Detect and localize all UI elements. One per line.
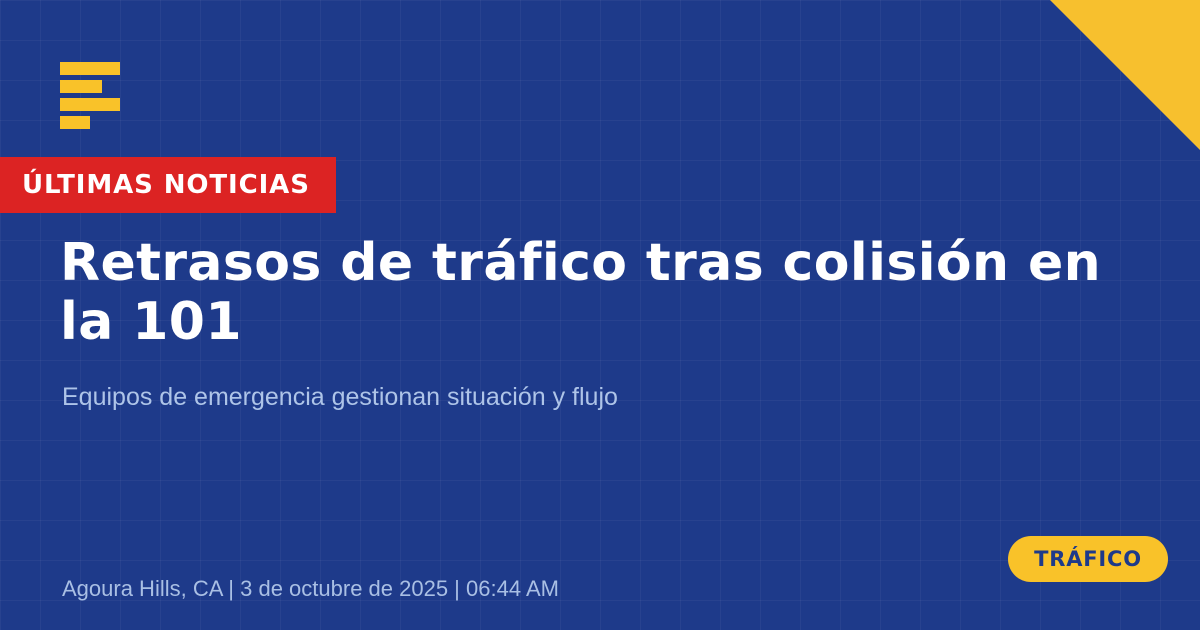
subheadline: Equipos de emergencia gestionan situació… [62,381,962,414]
headline: Retrasos de tráfico tras colisión en la … [60,234,1150,353]
logo-bar-3-icon [60,98,120,111]
logo-bar-1-icon [60,62,120,75]
category-badge-label: TRÁFICO [1034,549,1142,570]
logo-bar-2-icon [60,80,102,93]
breaking-news-label: ÚLTIMAS NOTICIAS [22,172,310,198]
news-graphic-card: ÚLTIMAS NOTICIAS Retrasos de tráfico tra… [0,0,1200,630]
breaking-news-badge: ÚLTIMAS NOTICIAS [0,157,336,213]
meta-line: Agoura Hills, CA | 3 de octubre de 2025 … [62,576,559,602]
brand-logo[interactable] [60,62,120,129]
corner-triangle-decoration [1050,0,1200,150]
category-badge[interactable]: TRÁFICO [1008,536,1168,582]
logo-bar-4-icon [60,116,90,129]
